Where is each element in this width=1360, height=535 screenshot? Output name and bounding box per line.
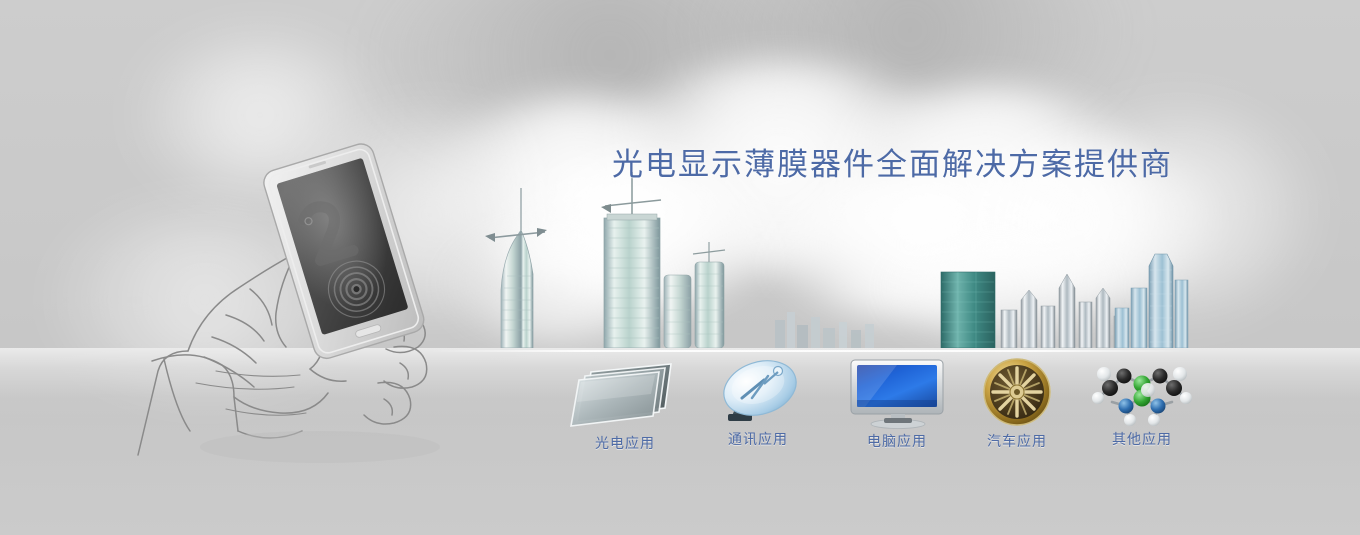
teal-office-block: [941, 272, 995, 355]
application-label: 电脑应用: [832, 431, 962, 451]
application-item-optoelectronic[interactable]: 光电应用: [560, 358, 690, 453]
city-skyline: [455, 170, 1195, 355]
page-title: 光电显示薄膜器件全面解决方案提供商: [612, 139, 1173, 184]
tall-cylindrical-tower: [601, 172, 661, 355]
horizon-highlight: [430, 350, 1190, 352]
burj-al-arab-tower: [485, 188, 547, 355]
application-label: 其他应用: [1077, 429, 1207, 449]
blue-glass-tower-cluster: [1115, 254, 1190, 355]
hero-banner: 光电显示薄膜器件全面解决方案提供商: [0, 0, 1360, 535]
smartphone: [261, 141, 427, 362]
twin-round-towers: [664, 242, 725, 355]
molecule-model-icon: [1082, 354, 1202, 430]
application-item-other[interactable]: 其他应用: [1077, 354, 1207, 449]
alloy-wheel-icon: [957, 356, 1077, 430]
application-label: 通讯应用: [693, 429, 823, 449]
glass-film-panels-icon: [565, 358, 685, 430]
application-item-automotive[interactable]: 汽车应用: [952, 356, 1082, 451]
application-item-computer[interactable]: 电脑应用: [832, 356, 962, 451]
silver-tower-cluster: [1001, 274, 1126, 355]
application-label: 汽车应用: [952, 431, 1082, 451]
application-label: 光电应用: [560, 433, 690, 453]
satellite-dish-icon: [698, 354, 818, 430]
hand-holding-smartphone-sketch: [130, 125, 470, 475]
lcd-monitor-icon: [837, 356, 957, 430]
application-icon-row: 光电应用: [560, 358, 1200, 458]
application-item-communication[interactable]: 通讯应用: [693, 354, 823, 449]
distant-low-rise-cluster: [775, 312, 874, 348]
